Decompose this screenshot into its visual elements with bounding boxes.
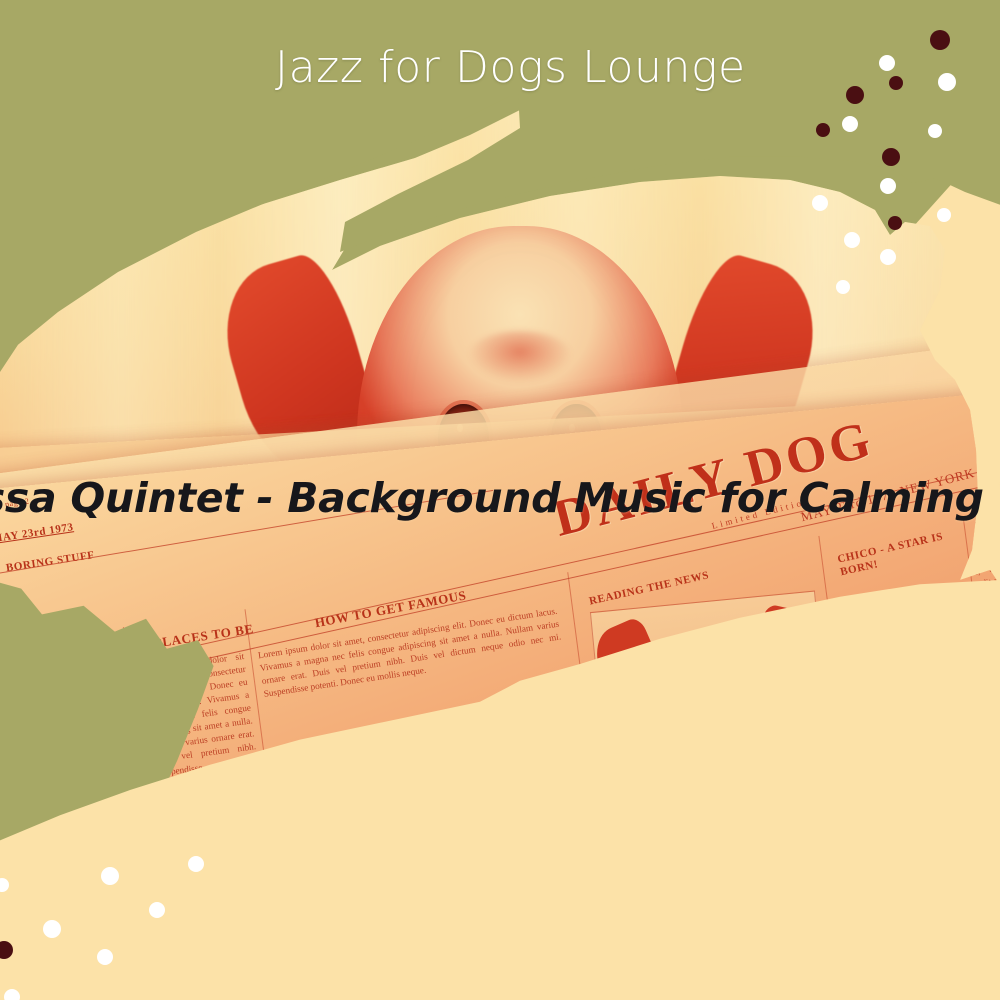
decorative-dot-maroon — [816, 123, 830, 137]
decorative-dot-white — [880, 178, 896, 194]
decorative-dot-white — [812, 195, 828, 211]
decorative-dot-white — [43, 920, 61, 938]
decorative-dot-white — [101, 867, 119, 885]
decorative-dot-white — [880, 249, 896, 265]
decorative-dot-white — [188, 856, 204, 872]
decorative-dot-white — [844, 232, 860, 248]
decorative-dot-maroon — [888, 216, 902, 230]
pug-forehead-wrinkle — [468, 331, 572, 384]
album-title: Jazz for Dogs Lounge — [275, 42, 746, 93]
decorative-dot-white — [937, 208, 951, 222]
decorative-dot-white — [97, 949, 113, 965]
decorative-dot-white — [842, 116, 858, 132]
decorative-dot-maroon — [889, 76, 903, 90]
decorative-dot-maroon — [882, 148, 900, 166]
newspaper-back-page-head: BORING STUFF — [5, 549, 95, 574]
decorative-dot-white — [836, 280, 850, 294]
decorative-dot-white — [928, 124, 942, 138]
album-cover: DAILY DOG Limited Edition MAY 23rd 1973 … — [0, 0, 1000, 1000]
newspaper-back-page-date: MAY 23rd 1973 — [0, 521, 74, 545]
decorative-dot-white — [938, 73, 956, 91]
decorative-dot-maroon — [930, 30, 950, 50]
decorative-dot-white — [4, 989, 20, 1000]
newspaper-column-heading-places-to-be: PLACES TO BE — [153, 621, 255, 652]
decorative-dot-white — [879, 55, 895, 71]
album-subtitle: Bossa Quintet - Background Music for Cal… — [0, 474, 1000, 522]
decorative-dot-maroon — [846, 86, 864, 104]
decorative-dot-white — [149, 902, 165, 918]
newspaper-column-heading-chico: CHICO - A STAR IS BORN! — [836, 527, 962, 578]
